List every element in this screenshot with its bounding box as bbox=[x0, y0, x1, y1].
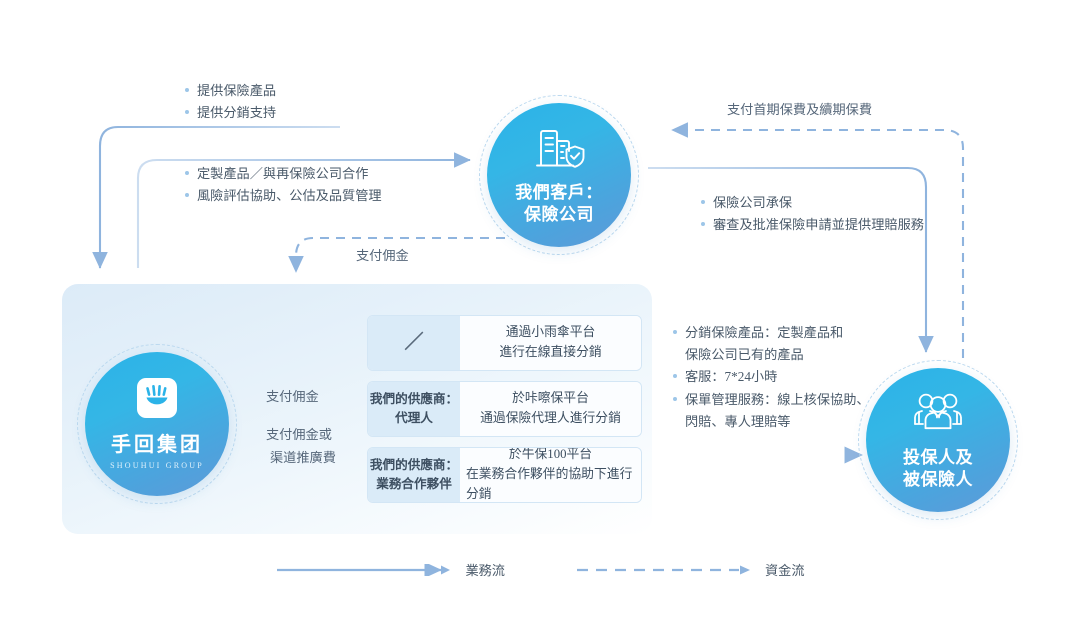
bullet-item: 客服：7*24小時 bbox=[672, 366, 870, 388]
diagram-canvas: 我們客戶： 保險公司 手回集团 SHOUHUI GROUP bbox=[0, 0, 1080, 624]
bullet-item: 分銷保險產品：定製產品和 bbox=[672, 322, 870, 344]
channel-row-supplier-cell: ／ bbox=[368, 316, 460, 370]
channel-row-direct[interactable]: ／ 通過小雨傘平台 進行在線直接分銷 bbox=[367, 315, 642, 371]
supplier-line1: 我們的供應商： bbox=[370, 456, 458, 475]
legend-business-flow: 業務流 bbox=[275, 560, 505, 579]
bullets-supply-products: 提供保險產品 提供分銷支持 bbox=[184, 80, 276, 124]
building-shield-icon bbox=[533, 125, 585, 177]
channel-row-supplier-cell: 我們的供應商： 業務合作夥伴 bbox=[368, 448, 460, 502]
supplier-line1: 我們的供應商： bbox=[370, 390, 458, 409]
supplier-line2: 業務合作夥伴 bbox=[376, 475, 452, 494]
channel-desc-line1: 通過小雨傘平台 bbox=[506, 323, 596, 343]
channel-row-description-cell: 於咔嚓保平台 通過保險代理人進行分銷 bbox=[460, 382, 641, 436]
client-label-line1: 投保人及 bbox=[903, 447, 973, 469]
bullet-item: 提供分銷支持 bbox=[184, 102, 276, 124]
solid-arrow-icon bbox=[275, 564, 455, 576]
channel-desc-line2: 在業務合作夥伴的協助下進行分銷 bbox=[466, 465, 635, 503]
group-brand-cn: 手回集团 bbox=[111, 433, 203, 459]
caption-commission-1: 支付佣金 bbox=[266, 386, 319, 405]
client-label-line2: 被保險人 bbox=[903, 469, 973, 491]
slash-placeholder: ／ bbox=[404, 329, 423, 358]
caption-premium-payment: 支付首期保費及續期保費 bbox=[727, 99, 872, 118]
channel-row-agent[interactable]: 我們的供應商： 代理人 於咔嚓保平台 通過保險代理人進行分銷 bbox=[367, 381, 642, 437]
caption-commission-2-line2: 渠道推廣費 bbox=[270, 447, 336, 466]
shouhui-group-node[interactable]: 手回集团 SHOUHUI GROUP bbox=[85, 352, 229, 496]
channel-desc-line2: 進行在線直接分銷 bbox=[499, 343, 601, 363]
insurer-node[interactable]: 我們客戶： 保險公司 bbox=[487, 103, 631, 247]
bullet-item-cont: 閃賠、專人理賠等 bbox=[672, 411, 870, 433]
bullet-item-cont: 保險公司已有的產品 bbox=[672, 344, 870, 366]
channel-row-supplier-cell: 我們的供應商： 代理人 bbox=[368, 382, 460, 436]
channel-desc-line1: 於牛保100平台 bbox=[509, 447, 592, 465]
channel-row-partner[interactable]: 我們的供應商： 業務合作夥伴 於牛保100平台 在業務合作夥伴的協助下進行分銷 bbox=[367, 447, 642, 503]
insurer-label-line2: 保險公司 bbox=[524, 204, 594, 226]
bullet-item: 保險公司承保 bbox=[700, 192, 924, 214]
policyholder-node[interactable]: 投保人及 被保險人 bbox=[866, 368, 1010, 512]
supplier-line2: 代理人 bbox=[395, 409, 433, 428]
bullets-client-services: 分銷保險產品：定製產品和 保險公司已有的產品 客服：7*24小時 保單管理服務：… bbox=[672, 322, 870, 433]
bullet-item: 風險評估協助、公估及品質管理 bbox=[184, 185, 382, 207]
people-group-icon bbox=[909, 390, 967, 442]
group-brand-en: SHOUHUI GROUP bbox=[110, 461, 204, 471]
caption-commission-2-line1: 支付佣金或 bbox=[266, 424, 332, 443]
legend-capital-flow-label: 資金流 bbox=[765, 560, 805, 579]
bullets-custom-products: 定製產品／與再保險公司合作 風險評估協助、公估及品質管理 bbox=[184, 163, 382, 207]
bullet-item: 定製產品／與再保險公司合作 bbox=[184, 163, 382, 185]
hand-logo-icon bbox=[135, 376, 179, 426]
legend-business-flow-label: 業務流 bbox=[465, 560, 505, 579]
legend: 業務流 資金流 bbox=[0, 560, 1080, 579]
insurer-label-line1: 我們客戶： bbox=[515, 182, 603, 204]
channel-desc-line1: 於咔嚓保平台 bbox=[512, 389, 589, 409]
channel-row-description-cell: 於牛保100平台 在業務合作夥伴的協助下進行分銷 bbox=[460, 448, 641, 502]
dashed-arrow-icon bbox=[575, 564, 755, 576]
channel-desc-line2: 通過保險代理人進行分銷 bbox=[480, 409, 621, 429]
channel-row-description-cell: 通過小雨傘平台 進行在線直接分銷 bbox=[460, 316, 641, 370]
bullet-item: 審查及批准保險申請並提供理賠服務 bbox=[700, 214, 924, 236]
bullets-underwriting: 保險公司承保 審查及批准保險申請並提供理賠服務 bbox=[700, 192, 924, 236]
bullet-item: 提供保險產品 bbox=[184, 80, 276, 102]
caption-pay-commission-top: 支付佣金 bbox=[356, 245, 409, 264]
bullet-item: 保單管理服務：線上核保協助、 bbox=[672, 389, 870, 411]
legend-capital-flow: 資金流 bbox=[575, 560, 805, 579]
